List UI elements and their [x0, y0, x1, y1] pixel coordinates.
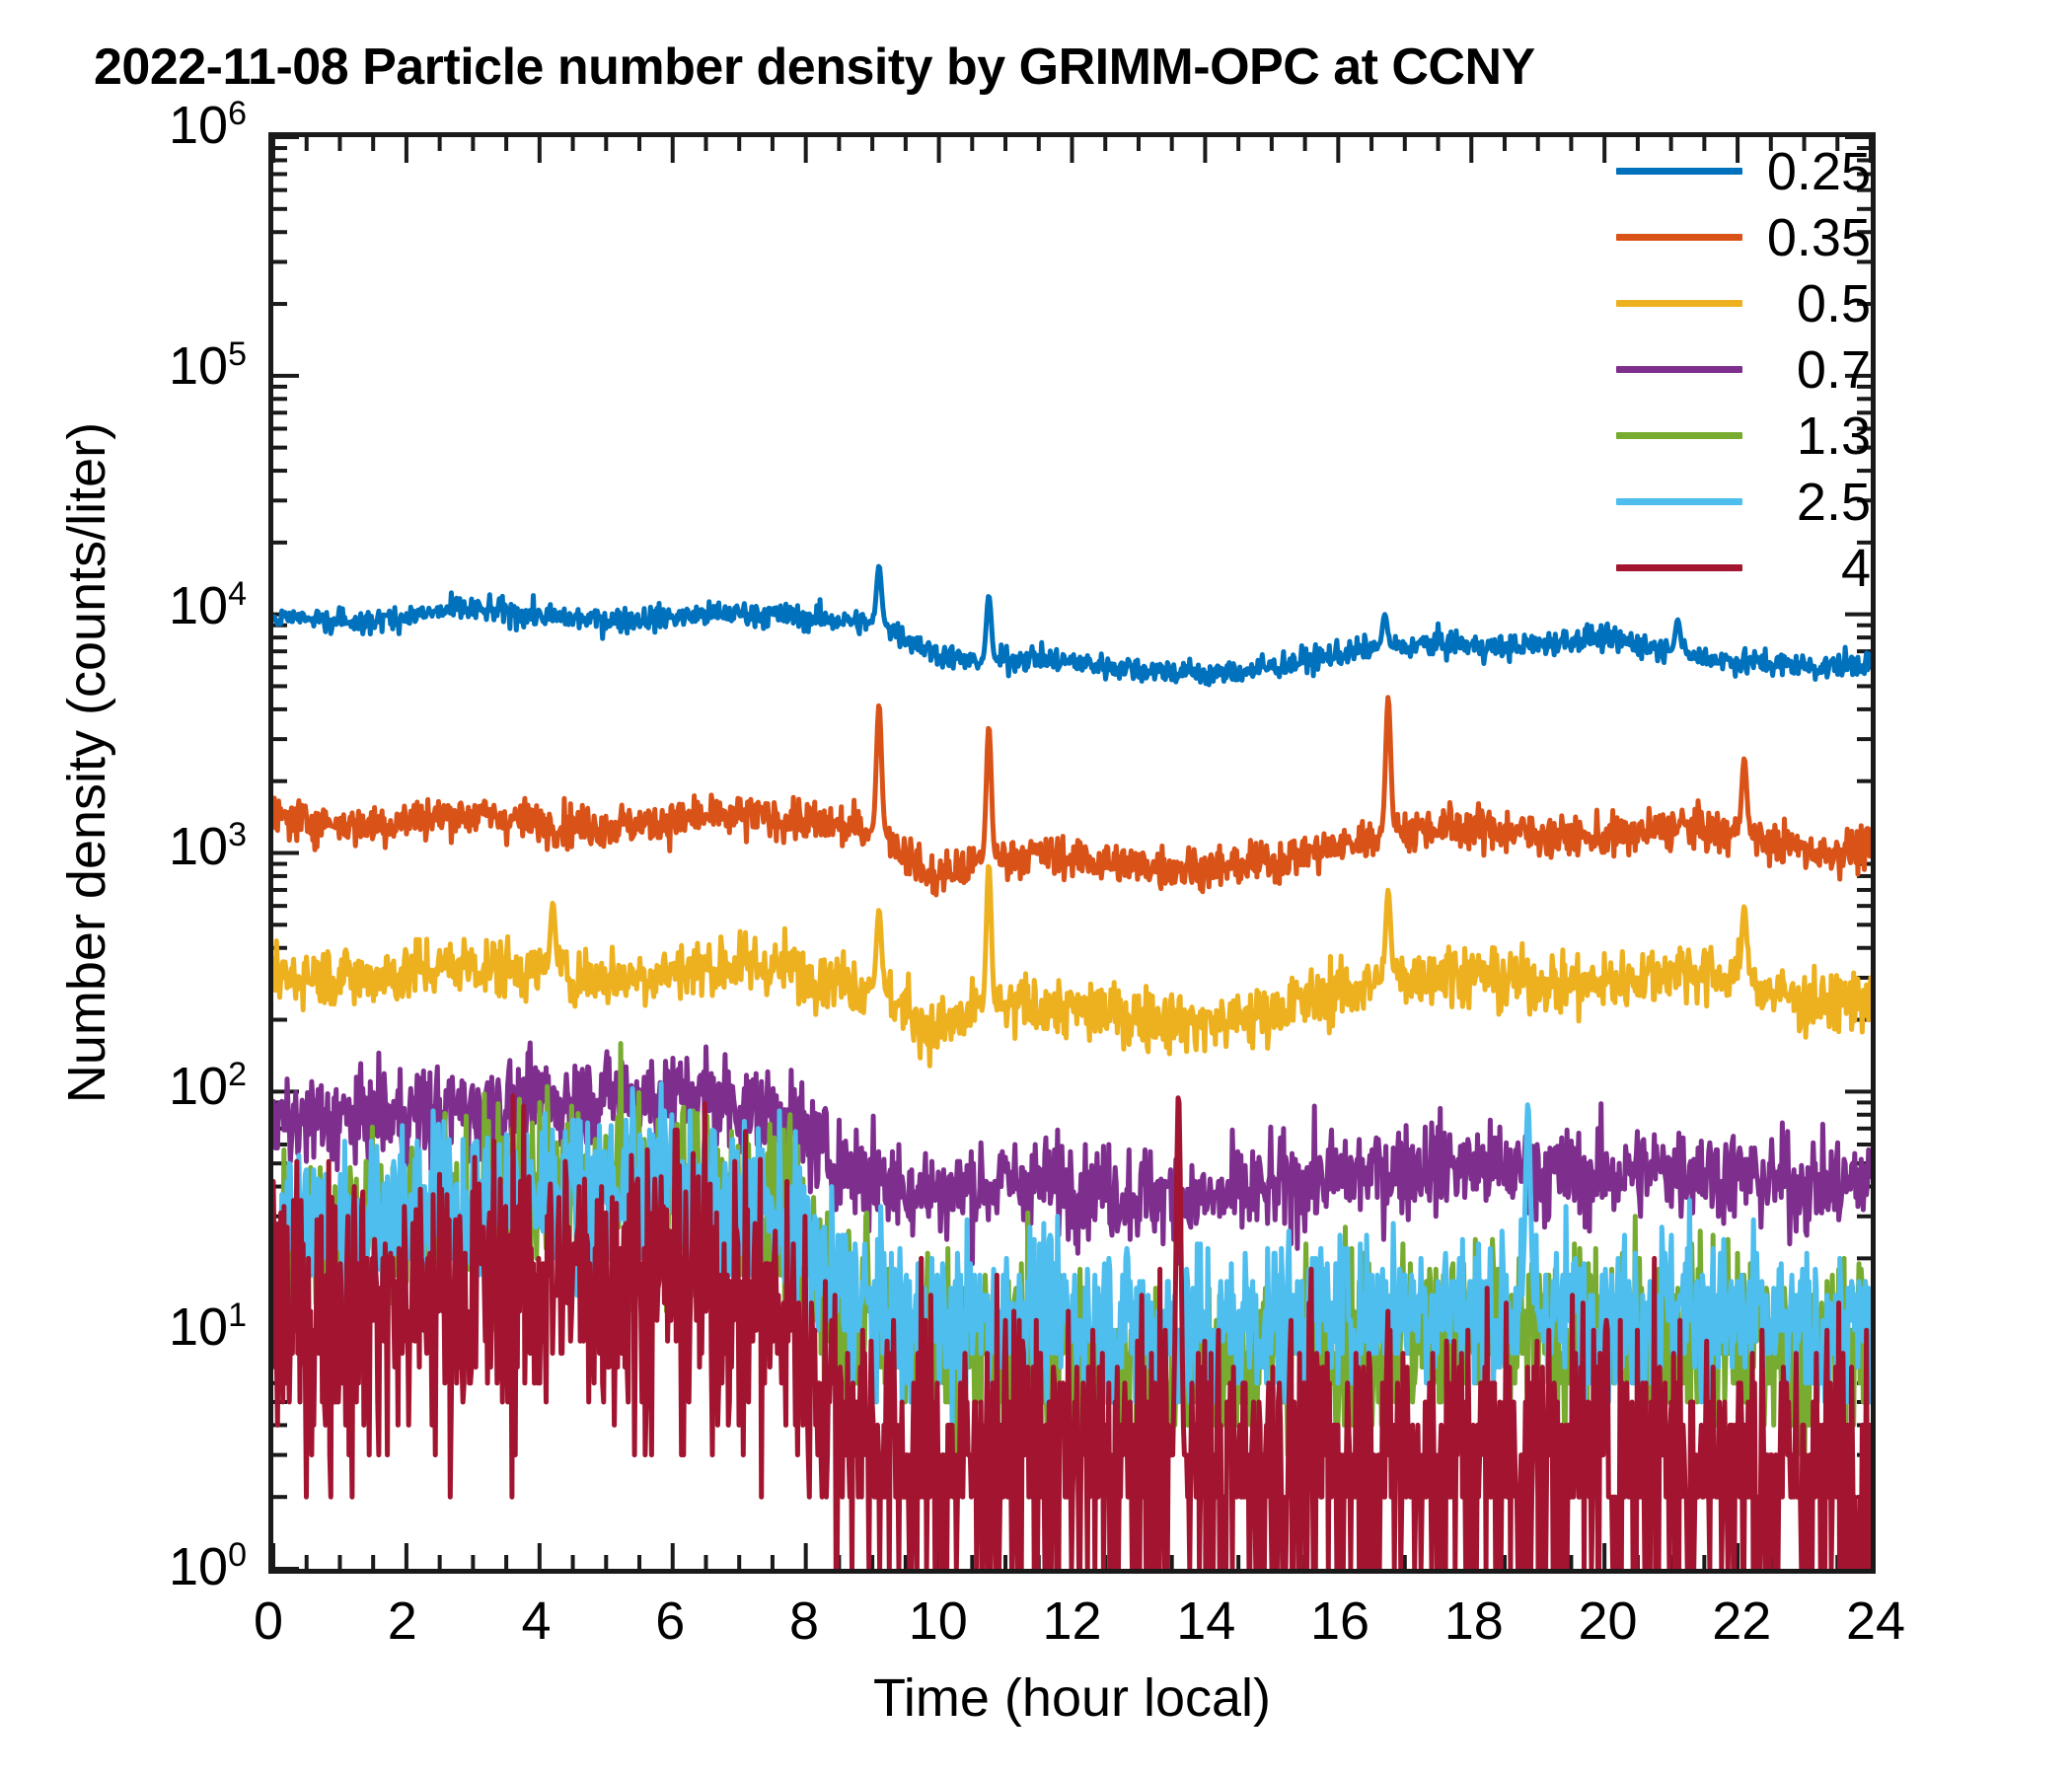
legend-item-0-5[interactable]: 0.5	[1575, 270, 1871, 336]
legend: 0.250.350.50.71.32.54	[1575, 138, 1871, 601]
y-tick-label: 102	[39, 1060, 247, 1113]
legend-swatch-icon	[1616, 498, 1742, 505]
series-line-0-35	[273, 698, 1871, 895]
y-tick-label: 105	[39, 339, 247, 393]
legend-label: 2.5	[1760, 476, 1871, 529]
y-tick-label: 100	[39, 1540, 247, 1593]
y-tick-label: 103	[39, 820, 247, 873]
x-tick-label: 10	[879, 1591, 998, 1652]
x-tick-label: 24	[1816, 1591, 1935, 1652]
legend-item-0-35[interactable]: 0.35	[1575, 204, 1871, 270]
legend-item-4[interactable]: 4	[1575, 535, 1871, 601]
legend-label: 0.5	[1760, 277, 1871, 331]
legend-item-0-7[interactable]: 0.7	[1575, 336, 1871, 403]
x-tick-label: 16	[1281, 1591, 1399, 1652]
legend-swatch-icon	[1616, 300, 1742, 307]
legend-swatch-icon	[1616, 234, 1742, 241]
legend-item-1-3[interactable]: 1.3	[1575, 403, 1871, 469]
x-tick-label: 8	[745, 1591, 863, 1652]
legend-swatch-icon	[1616, 168, 1742, 175]
x-tick-label: 12	[1013, 1591, 1132, 1652]
legend-label: 4	[1760, 542, 1871, 595]
x-tick-label: 14	[1147, 1591, 1265, 1652]
legend-label: 1.3	[1760, 409, 1871, 463]
y-tick-label: 104	[39, 579, 247, 632]
x-tick-label: 20	[1549, 1591, 1667, 1652]
legend-label: 0.25	[1760, 145, 1871, 198]
legend-swatch-icon	[1616, 432, 1742, 439]
legend-swatch-icon	[1616, 366, 1742, 373]
legend-label: 0.35	[1760, 211, 1871, 264]
series-line-0-5	[273, 866, 1871, 1066]
legend-swatch-icon	[1616, 564, 1742, 571]
x-axis-title: Time (hour local)	[268, 1667, 1876, 1729]
x-tick-label: 6	[611, 1591, 729, 1652]
legend-item-0-25[interactable]: 0.25	[1575, 138, 1871, 204]
page-title: 2022-11-08 Particle number density by GR…	[94, 37, 2028, 97]
x-tick-label: 0	[209, 1591, 328, 1652]
x-tick-label: 18	[1415, 1591, 1533, 1652]
y-tick-label: 101	[39, 1300, 247, 1354]
x-tick-label: 22	[1682, 1591, 1801, 1652]
legend-label: 0.7	[1760, 343, 1871, 397]
y-tick-label: 106	[39, 99, 247, 152]
x-tick-label: 2	[343, 1591, 462, 1652]
chart-root: 2022-11-08 Particle number density by GR…	[0, 0, 2072, 1776]
legend-item-2-5[interactable]: 2.5	[1575, 469, 1871, 535]
x-tick-label: 4	[478, 1591, 596, 1652]
